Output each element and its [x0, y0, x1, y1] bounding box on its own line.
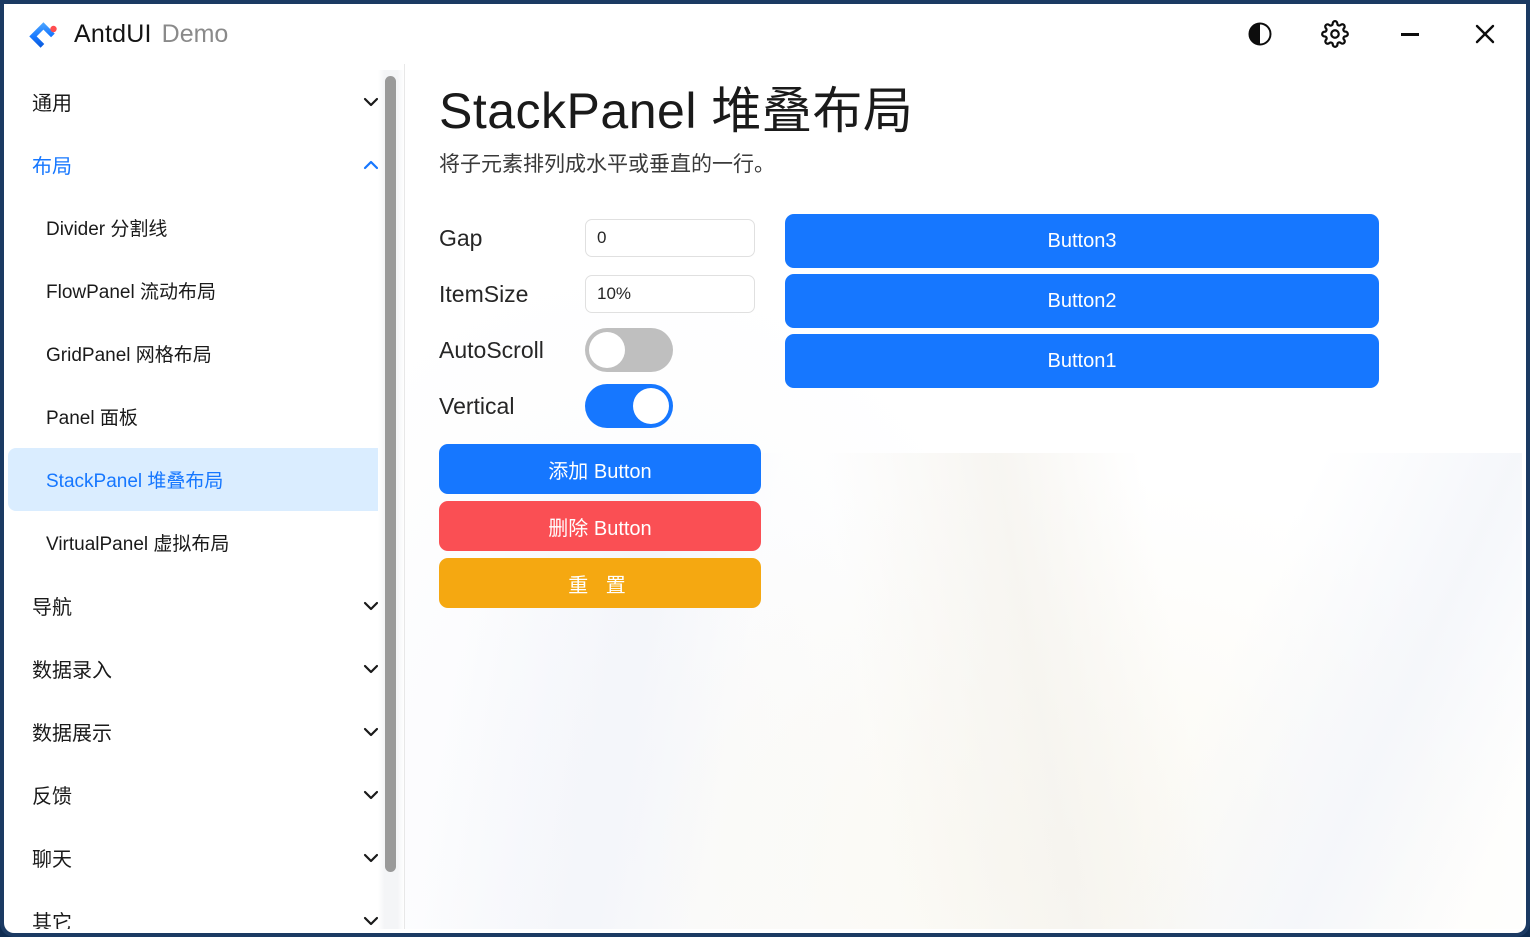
app-body: 通用 布局 Divider 分割线 FlowPanel 流动布局 GridPan…: [8, 64, 1522, 929]
gap-row: Gap: [439, 210, 769, 266]
sidebar-group-data-display[interactable]: 数据展示: [8, 700, 404, 763]
window-controls: [1222, 4, 1522, 64]
itemsize-input[interactable]: [585, 275, 755, 313]
sidebar-group-label: 导航: [32, 591, 72, 620]
gap-label: Gap: [439, 225, 585, 252]
sidebar-group-layout[interactable]: 布局: [8, 133, 404, 196]
sidebar-item-panel[interactable]: Panel 面板: [8, 385, 404, 448]
sidebar-group-feedback[interactable]: 反馈: [8, 763, 404, 826]
app-title: AntdUIDemo: [74, 20, 228, 49]
sidebar-item-gridpanel[interactable]: GridPanel 网格布局: [8, 322, 404, 385]
sidebar-group-label: 布局: [32, 150, 72, 179]
sidebar-item-label: VirtualPanel 虚拟布局: [46, 529, 229, 556]
autoscroll-label: AutoScroll: [439, 337, 585, 364]
sidebar-item-stackpanel[interactable]: StackPanel 堆叠布局: [8, 448, 404, 511]
page-title: StackPanel 堆叠布局: [439, 80, 1522, 142]
itemsize-row: ItemSize: [439, 266, 769, 322]
sidebar-group-general[interactable]: 通用: [8, 70, 404, 133]
delete-button-button[interactable]: 删除 Button: [439, 501, 761, 551]
gap-input[interactable]: [585, 219, 755, 257]
sidebar-item-label: Divider 分割线: [46, 214, 167, 241]
sidebar-group-label: 数据展示: [32, 717, 112, 746]
sidebar-item-label: FlowPanel 流动布局: [46, 277, 216, 304]
sidebar-group-label: 通用: [32, 87, 72, 116]
app-brand: AntdUIDemo: [8, 17, 228, 51]
stack-button-1[interactable]: Button1: [785, 334, 1379, 388]
toggle-knob: [633, 388, 669, 424]
sidebar-group-chat[interactable]: 聊天: [8, 826, 404, 889]
antdui-logo-icon: [26, 17, 60, 51]
sidebar-item-label: StackPanel 堆叠布局: [46, 466, 223, 493]
theme-contrast-icon[interactable]: [1222, 4, 1297, 64]
demo-area: Gap ItemSize AutoScroll Vert: [439, 210, 1522, 615]
stack-button-2[interactable]: Button2: [785, 274, 1379, 328]
sidebar-group-label: 数据录入: [32, 654, 112, 683]
autoscroll-toggle[interactable]: [585, 328, 673, 372]
sidebar-item-label: Panel 面板: [46, 403, 138, 430]
title-bar: AntdUIDemo: [8, 4, 1522, 64]
sidebar-item-flowpanel[interactable]: FlowPanel 流动布局: [8, 259, 404, 322]
sidebar: 通用 布局 Divider 分割线 FlowPanel 流动布局 GridPan…: [8, 64, 404, 929]
sidebar-item-divider[interactable]: Divider 分割线: [8, 196, 404, 259]
reset-button[interactable]: 重 置: [439, 558, 761, 608]
sidebar-group-navigation[interactable]: 导航: [8, 574, 404, 637]
stackpanel-preview: Button3 Button2 Button1: [785, 210, 1379, 388]
sidebar-group-others[interactable]: 其它: [8, 889, 404, 929]
itemsize-label: ItemSize: [439, 281, 585, 308]
vertical-toggle[interactable]: [585, 384, 673, 428]
sidebar-scrollbar-thumb[interactable]: [385, 76, 396, 872]
settings-form: Gap ItemSize AutoScroll Vert: [439, 210, 769, 615]
sidebar-menu: 通用 布局 Divider 分割线 FlowPanel 流动布局 GridPan…: [8, 64, 404, 929]
toggle-knob: [589, 332, 625, 368]
sidebar-group-label: 聊天: [32, 843, 72, 872]
vertical-row: Vertical: [439, 378, 769, 434]
stack-button-3[interactable]: Button3: [785, 214, 1379, 268]
sidebar-item-virtualpanel[interactable]: VirtualPanel 虚拟布局: [8, 511, 404, 574]
main-content: StackPanel 堆叠布局 将子元素排列成水平或垂直的一行。 Gap Ite…: [405, 64, 1522, 929]
close-icon[interactable]: [1447, 4, 1522, 64]
sidebar-group-data-entry[interactable]: 数据录入: [8, 637, 404, 700]
vertical-label: Vertical: [439, 393, 585, 420]
autoscroll-row: AutoScroll: [439, 322, 769, 378]
sidebar-group-label: 反馈: [32, 780, 72, 809]
sidebar-scrollbar-track[interactable]: [378, 70, 404, 929]
app-window: AntdUIDemo: [0, 0, 1530, 937]
page-description: 将子元素排列成水平或垂直的一行。: [439, 148, 1522, 178]
gear-icon[interactable]: [1297, 4, 1372, 64]
sidebar-item-label: GridPanel 网格布局: [46, 340, 212, 367]
minimize-icon[interactable]: [1372, 4, 1447, 64]
sidebar-group-label: 其它: [32, 906, 72, 929]
add-button-button[interactable]: 添加 Button: [439, 444, 761, 494]
